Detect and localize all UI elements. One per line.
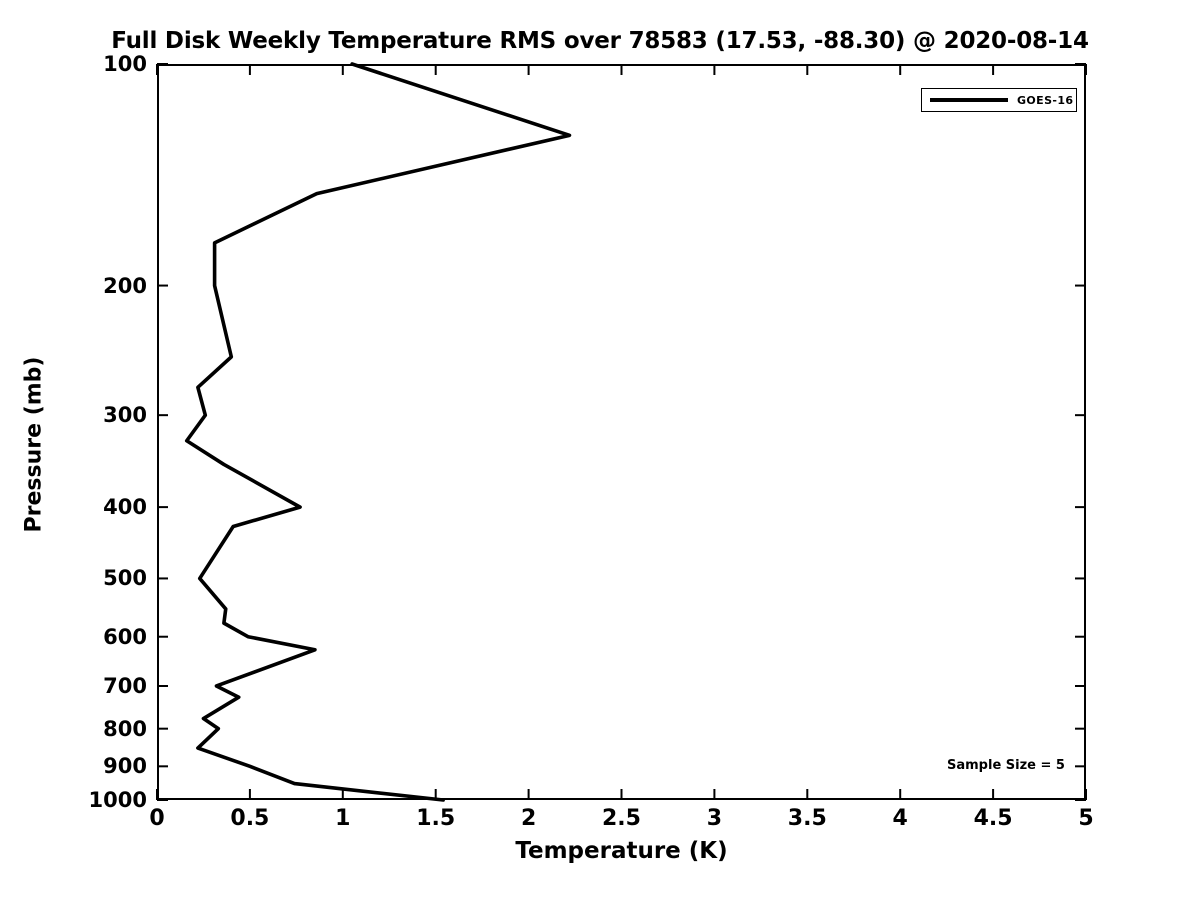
x-tick-label: 5 <box>1041 806 1131 831</box>
x-tick-label: 1 <box>298 806 388 831</box>
x-tick-label: 2 <box>484 806 574 831</box>
x-tick-label: 4.5 <box>948 806 1038 831</box>
y-tick-label: 900 <box>37 754 147 778</box>
x-tick-label: 2.5 <box>577 806 667 831</box>
y-tick-label: 600 <box>37 625 147 649</box>
y-tick-label: 200 <box>37 274 147 298</box>
series-line-goes-16 <box>187 64 570 800</box>
axis-ticks <box>157 64 1086 800</box>
y-tick-label: 300 <box>37 403 147 427</box>
x-tick-label: 0.5 <box>205 806 295 831</box>
x-tick-label: 1.5 <box>391 806 481 831</box>
sample-size-annotation: Sample Size = 5 <box>947 758 1065 773</box>
y-tick-label: 500 <box>37 566 147 590</box>
x-tick-label: 3 <box>669 806 759 831</box>
legend: GOES-16 <box>921 88 1077 112</box>
x-tick-label: 4 <box>855 806 945 831</box>
y-tick-label: 700 <box>37 674 147 698</box>
legend-label: GOES-16 <box>1017 94 1074 107</box>
y-tick-label: 800 <box>37 717 147 741</box>
y-tick-label: 100 <box>37 52 147 76</box>
x-tick-label: 3.5 <box>762 806 852 831</box>
chart-canvas: Full Disk Weekly Temperature RMS over 78… <box>0 0 1200 900</box>
y-tick-label: 400 <box>37 495 147 519</box>
x-tick-label: 0 <box>112 806 202 831</box>
legend-line-swatch <box>930 98 1008 102</box>
